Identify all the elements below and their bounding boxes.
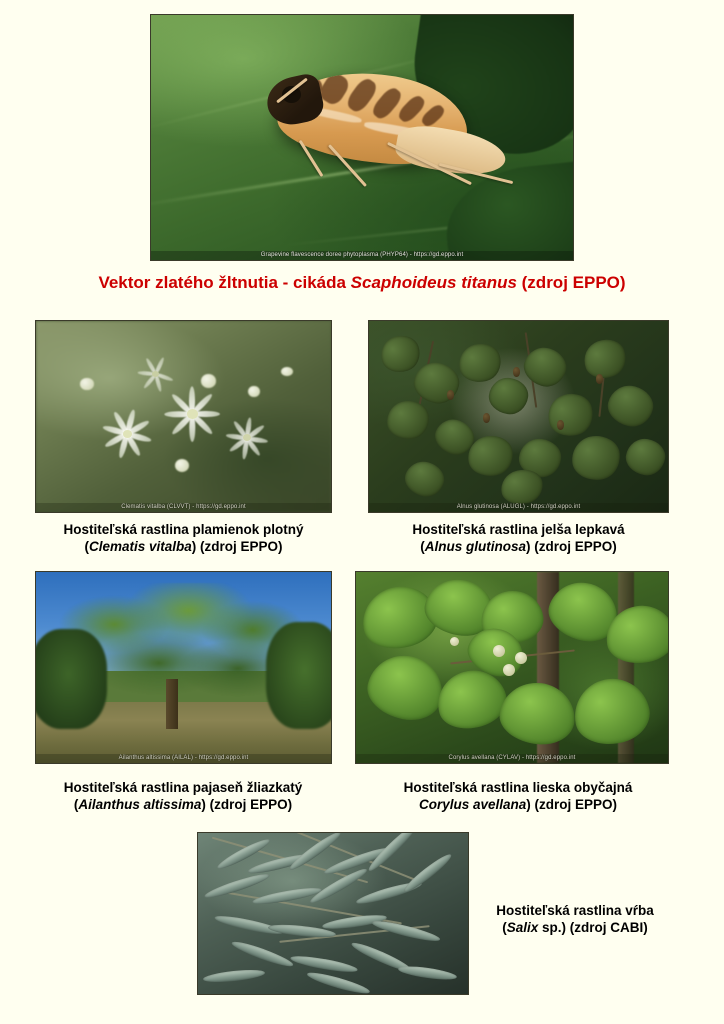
clematis-caption-line2: (Clematis vitalba) (zdroj EPPO): [20, 538, 347, 555]
photo-watermark: Corylus avellana (CYLAV) - https://gd.ep…: [356, 754, 668, 763]
clematis-flower: [133, 355, 177, 393]
clematis-flower: [160, 386, 225, 443]
salix-scene: [198, 833, 468, 994]
clematis-vitalba-photo: Clematis vitalba (CLVVT) - https://gd.ep…: [35, 320, 332, 513]
corylus-scene: Corylus avellana (CYLAV) - https://gd.ep…: [356, 572, 668, 763]
clematis-flower: [98, 409, 157, 461]
photo-watermark: Ailanthus altissima (AILAL) - https://gd…: [36, 754, 331, 763]
salix-photo: [197, 832, 469, 995]
photo-watermark: Alnus glutinosa (ALUGL) - https://gd.epp…: [369, 503, 668, 512]
salix-caption: Hostiteľská rastlina vŕba (Salix sp.) (z…: [470, 902, 680, 936]
clematis-flower: [222, 417, 272, 461]
scaphoideus-titanus-photo: Grapevine flavescence doree phytoplasma …: [150, 14, 574, 261]
corylus-avellana-photo: Corylus avellana (CYLAV) - https://gd.ep…: [355, 571, 669, 764]
main-title: Vektor zlatého žltnutia - cikáda Scaphoi…: [0, 272, 724, 294]
ailanthus-caption: Hostiteľská rastlina pajaseň žliazkatý (…: [15, 779, 351, 813]
alnus-caption: Hostiteľská rastlina jelša lepkavá (Alnu…: [355, 521, 682, 555]
leaf-background: Grapevine flavescence doree phytoplasma …: [151, 15, 573, 260]
clematis-caption: Hostiteľská rastlina plamienok plotný (C…: [20, 521, 347, 555]
corylus-caption-line2: Corylus avellana) (zdroj EPPO): [360, 796, 676, 813]
alnus-scene: Alnus glutinosa (ALUGL) - https://gd.epp…: [369, 321, 668, 512]
photo-watermark: Grapevine flavescence doree phytoplasma …: [151, 251, 573, 260]
ailanthus-caption-line2: (Ailanthus altissima) (zdroj EPPO): [15, 796, 351, 813]
salix-caption-line1: Hostiteľská rastlina vŕba: [470, 902, 680, 919]
ailanthus-altissima-photo: Ailanthus altissima (AILAL) - https://gd…: [35, 571, 332, 764]
alnus-caption-line2: (Alnus glutinosa) (zdroj EPPO): [355, 538, 682, 555]
alnus-caption-line1: Hostiteľská rastlina jelša lepkavá: [355, 521, 682, 538]
main-title-species: Scaphoideus titanus: [351, 273, 517, 292]
ailanthus-caption-line1: Hostiteľská rastlina pajaseň žliazkatý: [15, 779, 351, 796]
clematis-caption-line1: Hostiteľská rastlina plamienok plotný: [20, 521, 347, 538]
ailanthus-scene: Ailanthus altissima (AILAL) - https://gd…: [36, 572, 331, 763]
corylus-caption-line1: Hostiteľská rastlina lieska obyčajná: [360, 779, 676, 796]
corylus-caption: Hostiteľská rastlina lieska obyčajná Cor…: [360, 779, 676, 813]
alnus-glutinosa-photo: Alnus glutinosa (ALUGL) - https://gd.epp…: [368, 320, 669, 513]
photo-watermark: Clematis vitalba (CLVVT) - https://gd.ep…: [36, 503, 331, 512]
main-title-prefix: Vektor zlatého žltnutia - cikáda: [98, 273, 350, 292]
slide-page: Grapevine flavescence doree phytoplasma …: [0, 0, 724, 1024]
main-title-suffix: (zdroj EPPO): [517, 273, 626, 292]
salix-caption-line2: (Salix sp.) (zdroj CABI): [470, 919, 680, 936]
clematis-scene: Clematis vitalba (CLVVT) - https://gd.ep…: [36, 321, 331, 512]
